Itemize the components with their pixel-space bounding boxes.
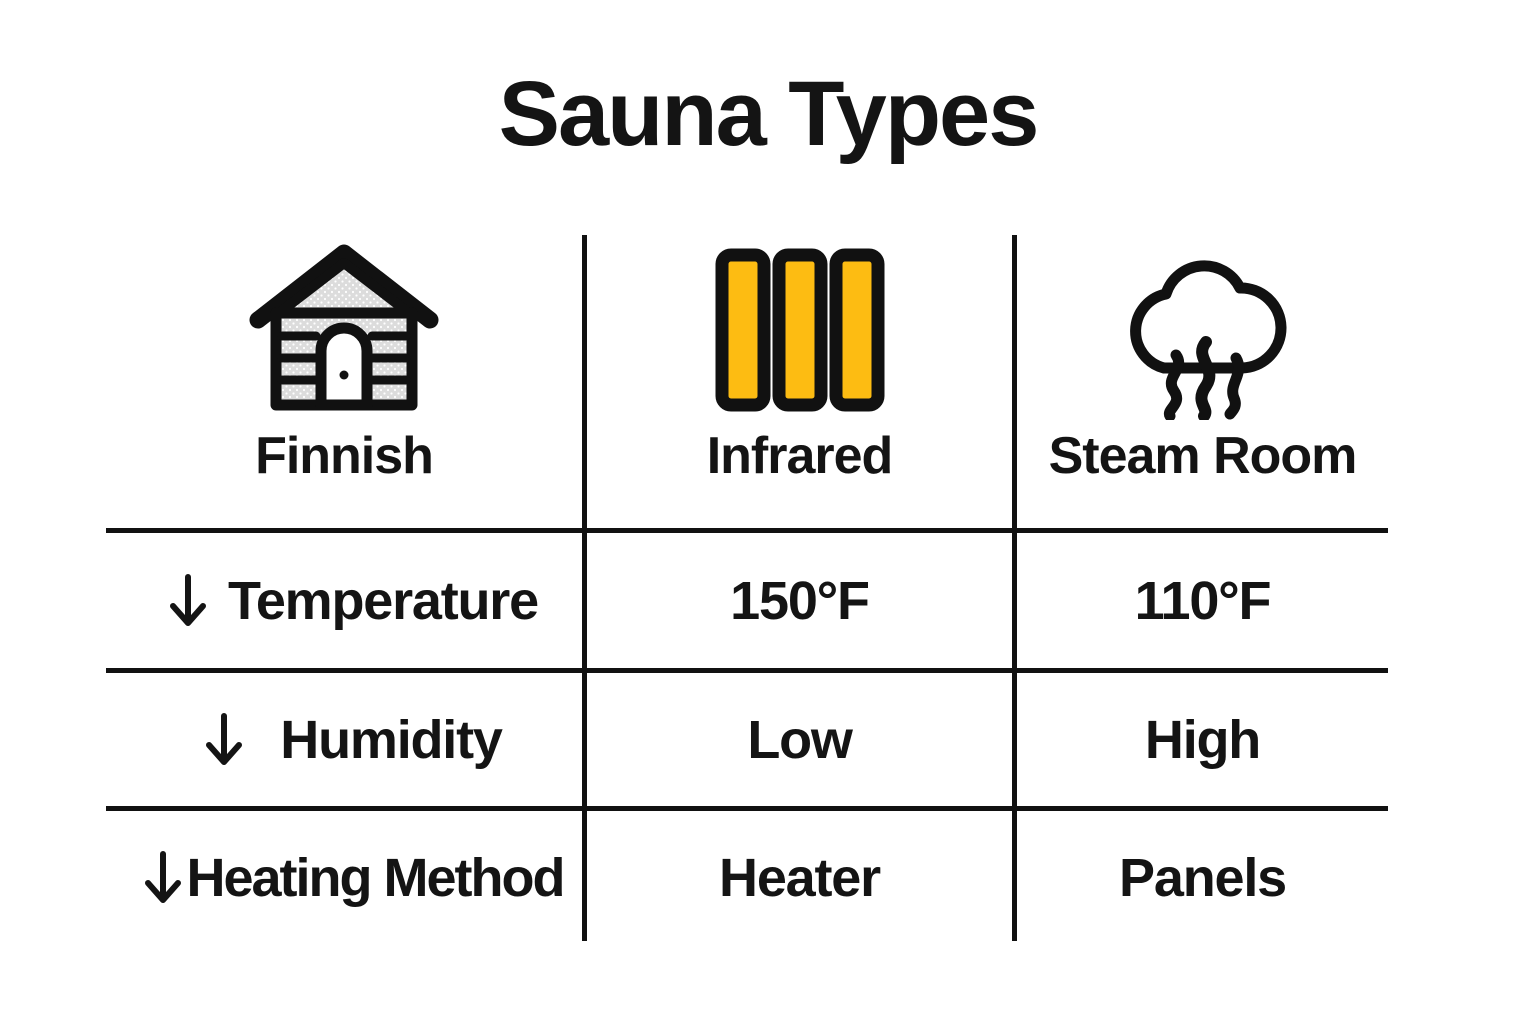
column-header-label: Finnish bbox=[255, 430, 433, 482]
column-header-steam-room: Steam Room bbox=[1017, 228, 1388, 528]
column-header-finnish: Finnish bbox=[106, 228, 582, 528]
cell-value: 150°F bbox=[730, 574, 869, 628]
cell-value: Heater bbox=[719, 851, 880, 905]
row-label-humidity: Humidity bbox=[106, 673, 590, 806]
column-header-infrared: Infrared bbox=[587, 228, 1012, 528]
cell-temperature-infrared: 150°F bbox=[587, 533, 1012, 668]
comparison-table: Finnish Infrared bbox=[106, 228, 1388, 944]
cell-heating-method-steam-room: Panels bbox=[1017, 811, 1388, 944]
row-label-heating-method: Heating Method bbox=[106, 811, 590, 944]
cell-heating-method-infrared: Heater bbox=[587, 811, 1012, 944]
row-label-temperature: Temperature bbox=[106, 533, 590, 668]
cell-value: Panels bbox=[1119, 851, 1286, 905]
column-header-label: Steam Room bbox=[1049, 430, 1357, 482]
cell-value: Low bbox=[747, 713, 851, 767]
table-row: Humidity Low High bbox=[106, 673, 1388, 806]
sauna-types-comparison-page: Sauna Types bbox=[0, 0, 1536, 1024]
infrared-bars-icon bbox=[711, 232, 889, 428]
steam-cloud-icon bbox=[1110, 232, 1296, 428]
table-row: Temperature 150°F 110°F bbox=[106, 533, 1388, 668]
row-label-text: Humidity bbox=[280, 713, 501, 767]
arrow-down-icon bbox=[202, 712, 246, 768]
row-label-text: Temperature bbox=[228, 574, 538, 628]
column-header-label: Infrared bbox=[707, 430, 893, 482]
page-title: Sauna Types bbox=[0, 64, 1536, 165]
cell-temperature-steam-room: 110°F bbox=[1017, 533, 1388, 668]
table-header-row: Finnish Infrared bbox=[106, 228, 1388, 528]
arrow-down-icon bbox=[166, 573, 210, 629]
arrow-down-icon bbox=[141, 850, 185, 906]
cell-value: 110°F bbox=[1135, 574, 1271, 628]
cell-value: High bbox=[1145, 713, 1260, 767]
cell-humidity-steam-room: High bbox=[1017, 673, 1388, 806]
table-row: Heating Method Heater Panels bbox=[106, 811, 1388, 944]
row-label-text: Heating Method bbox=[187, 851, 564, 905]
log-cabin-icon bbox=[246, 232, 442, 428]
cell-humidity-infrared: Low bbox=[587, 673, 1012, 806]
